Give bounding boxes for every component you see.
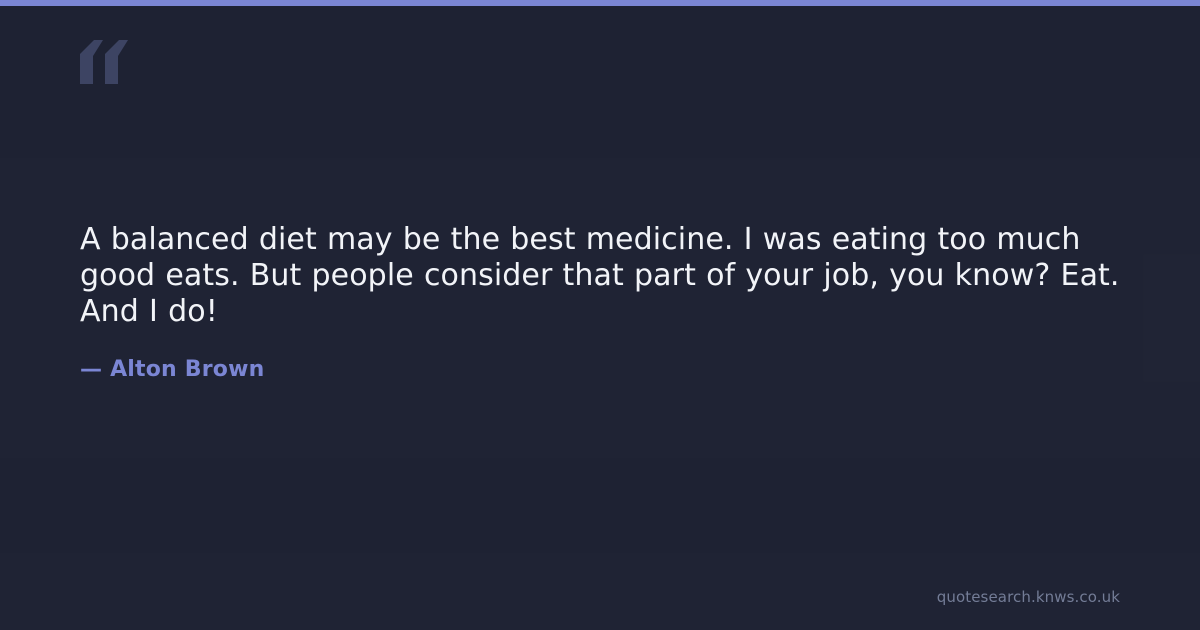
quote-card: A balanced diet may be the best medicine… [0,0,1200,630]
attribution-dash: — [80,357,102,382]
top-accent-bar [0,0,1200,6]
quote-text: A balanced diet may be the best medicine… [80,222,1120,330]
quote-content: A balanced diet may be the best medicine… [80,222,1120,383]
quote-attribution: — Alton Brown [80,330,1120,383]
source-site-label[interactable]: quotesearch.knws.co.uk [937,588,1120,606]
quote-author[interactable]: Alton Brown [110,357,264,382]
card-footer: quotesearch.knws.co.uk [937,587,1120,606]
double-quote-open-icon [80,40,136,84]
